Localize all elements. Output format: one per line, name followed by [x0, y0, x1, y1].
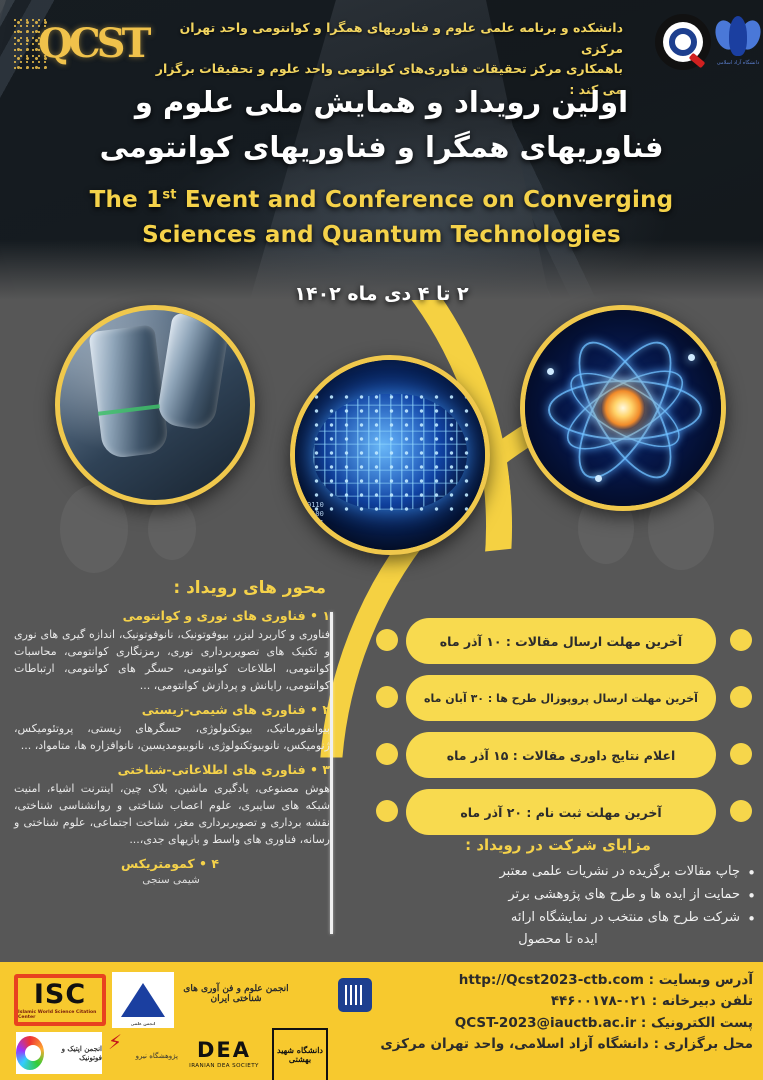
deadlines-section: آخرین مهلت ارسال مقالات : ۱۰ آذر ماه آخر…	[376, 618, 756, 846]
qcst-logo: QCST	[14, 14, 136, 74]
event-date: ۲ تا ۴ دی ماه ۱۴۰۲	[0, 283, 763, 305]
persian-title-line-2: فناوریهای همگرا و فناوریهای کوانتومی	[0, 125, 763, 170]
topic-item: ۱ • فناوری های نوری و کوانتومی فناوری و …	[10, 608, 332, 694]
objective-lens-icon	[88, 324, 169, 459]
objective-lens-icon	[156, 312, 231, 432]
persian-title: اولین رویداد و همایش ملی علوم و فناوریها…	[0, 80, 763, 170]
english-title: The 1st Event and Conference on Convergi…	[0, 183, 763, 252]
venue-value: دانشگاه آزاد اسلامی، واحد تهران مرکزی	[380, 1036, 648, 1052]
dea-sublabel: IRANIAN DEA SOCIETY	[189, 1063, 259, 1069]
email-label: پست الکترونیک :	[641, 1015, 753, 1031]
bullet-dot-icon	[730, 686, 752, 708]
topic-number: ۲	[322, 702, 330, 717]
qcst-logo-text: QCST	[38, 20, 147, 67]
topic-number: ۴	[211, 856, 219, 871]
topics-section: محور های رویداد : ۱ • فناوری های نوری و …	[10, 578, 332, 886]
deadline-row: آخرین مهلت ثبت نام : ۲۰ آذر ماه	[376, 789, 756, 835]
topic-label: فناوری های شیمی-زیستی	[142, 702, 306, 717]
bullet-dot-icon	[730, 629, 752, 651]
topic-title: ۴ • کمومتریکس	[10, 856, 330, 871]
topic-label: کمومتریکس	[121, 856, 195, 871]
phone-value: ۰۲۱-۴۴۶۰۰۱۷۸	[551, 993, 647, 1009]
benefits-section: مزایای شرکت در رویداد : چاپ مقالات برگزی…	[360, 836, 756, 952]
bullet-dot-icon	[376, 800, 398, 822]
deadline-pill: اعلام نتایج داوری مقالات : ۱۵ آذر ماه	[406, 732, 716, 778]
contact-info: آدرس وبسایت : http://Qcst2023-ctb.com تل…	[333, 970, 753, 1055]
lightning-bolt-icon: ⚡	[108, 1032, 178, 1052]
dea-society-logo: DEA IRANIAN DEA SOCIETY	[182, 1034, 266, 1074]
dea-label: DEA	[197, 1040, 251, 1061]
isc-sublabel: Islamic World Science Citation Center	[18, 1010, 102, 1020]
english-title-line-2: Sciences and Quantum Technologies	[0, 218, 763, 253]
topic-body: فناوری و کاربرد لیزر، بیوفوتونیک، نانوفو…	[14, 626, 330, 694]
organizer-line-1: دانشکده و برنامه علمی علوم و فناوریهای ه…	[153, 18, 623, 59]
footer-bar: ISC Islamic World Science Citation Cente…	[0, 962, 763, 1080]
q-ring-icon	[663, 22, 703, 62]
topic-label: فناوری های نوری و کوانتومی	[123, 608, 306, 623]
ordinal-suffix: st	[162, 187, 176, 202]
isc-inner: ISC Islamic World Science Citation Cente…	[18, 978, 102, 1022]
electron-icon	[688, 354, 695, 361]
electron-icon	[547, 368, 554, 375]
contact-venue-row: محل برگزاری : دانشگاه آزاد اسلامی، واحد …	[333, 1034, 753, 1055]
persian-title-line-1: اولین رویداد و همایش ملی علوم و	[0, 80, 763, 125]
contact-phone-row: تلفن دبیرخانه : ۰۲۱-۴۴۶۰۰۱۷۸	[333, 991, 753, 1012]
benefits-heading: مزایای شرکت در رویداد :	[360, 836, 756, 854]
rainbow-circle-icon	[16, 1036, 44, 1070]
english-title-prefix: The 1	[90, 187, 163, 213]
topic-item: ۲ • فناوری های شیمی-زیستی بیوانفورماتیک،…	[10, 702, 332, 754]
topic-label: فناوری های اطلاعاتی-شناختی	[118, 762, 306, 777]
topic-number: ۱	[322, 608, 330, 623]
topic-title: ۲ • فناوری های شیمی-زیستی	[10, 702, 330, 717]
bullet-dot-icon	[730, 743, 752, 765]
wing-center-icon	[729, 16, 747, 56]
atom-image	[520, 305, 726, 511]
contact-website-row: آدرس وبسایت : http://Qcst2023-ctb.com	[333, 970, 753, 991]
topics-heading: محور های رویداد :	[10, 578, 326, 598]
venue-label: محل برگزاری :	[654, 1036, 753, 1052]
contact-email-row: پست الکترونیک : QCST-2023@iauctb.ac.ir	[333, 1013, 753, 1034]
deadline-pill: آخرین مهلت ارسال پروپوزال طرح ها : ۳۰ آب…	[406, 675, 716, 721]
topic-number: ۳	[322, 762, 330, 777]
website-value[interactable]: http://Qcst2023-ctb.com	[459, 972, 644, 988]
english-title-line-1: The 1st Event and Conference on Convergi…	[0, 183, 763, 218]
benefit-continuation: ایده تا محصول	[360, 929, 756, 952]
cognitive-association-logo: انجمن علمی	[112, 972, 174, 1028]
azad-caption: دانشگاه آزاد اسلامی	[716, 60, 760, 66]
benefit-item: شرکت طرح های منتخب در نمایشگاه ارائه	[360, 907, 756, 930]
conference-poster: QCST دانشگاه آزاد اسلامی دانشکده و برنام…	[0, 0, 763, 1080]
binary-digits: 0110010010011001	[307, 501, 324, 536]
deadline-row: اعلام نتایج داوری مقالات : ۱۵ آذر ماه	[376, 732, 756, 778]
email-value[interactable]: QCST-2023@iauctb.ac.ir	[455, 1015, 636, 1031]
benefit-item: چاپ مقالات برگزیده در نشریات علمی معتبر	[360, 861, 756, 884]
phone-label: تلفن دبیرخانه :	[652, 993, 753, 1009]
cognitive-association-text: انجمن علوم و فن آوری های شناختی ایران	[176, 984, 296, 1004]
deadline-pill: آخرین مهلت ثبت نام : ۲۰ آذر ماه	[406, 789, 716, 835]
shahid-beheshti-logo: دانشگاه شهید بهشتی	[272, 1028, 328, 1080]
azad-university-logo: دانشگاه آزاد اسلامی	[716, 12, 760, 74]
benefit-item: حمایت از ایده ها و طرح های پژوهشی برتر	[360, 884, 756, 907]
nucleus-icon	[601, 386, 645, 430]
topic-title: ۳ • فناوری های اطلاعاتی-شناختی	[10, 762, 330, 777]
topic-title: ۱ • فناوری های نوری و کوانتومی	[10, 608, 330, 623]
website-label: آدرس وبسایت :	[649, 972, 753, 988]
bullet-dot-icon	[376, 743, 398, 765]
quantum-research-center-logo	[655, 14, 711, 70]
deadline-row: آخرین مهلت ارسال مقالات : ۱۰ آذر ماه	[376, 618, 756, 664]
microscope-image	[55, 305, 255, 505]
niroo-research-logo: ⚡ پژوهشگاه نیرو	[108, 1032, 178, 1076]
deadline-pill: آخرین مهلت ارسال مقالات : ۱۰ آذر ماه	[406, 618, 716, 664]
english-title-rest: Event and Conference on Converging	[177, 187, 674, 213]
isc-logo: ISC Islamic World Science Citation Cente…	[14, 974, 106, 1026]
topic-item: ۳ • فناوری های اطلاعاتی-شناختی هوش مصنوع…	[10, 762, 332, 848]
bullet-dot-icon	[376, 686, 398, 708]
optics-society-text: انجمن اپتیک و فوتونیک	[48, 1044, 102, 1062]
digital-brain-image: 0110010010011001	[290, 355, 490, 555]
electron-icon	[595, 475, 602, 482]
column-divider	[330, 612, 333, 934]
optics-society-logo: انجمن اپتیک و فوتونیک	[16, 1032, 102, 1074]
bullet-dot-icon	[730, 800, 752, 822]
sponsor-logos: ISC Islamic World Science Citation Cente…	[6, 966, 336, 1078]
topic-body: شیمی سنجی	[10, 874, 332, 886]
isc-label: ISC	[34, 981, 86, 1008]
deadline-row: آخرین مهلت ارسال پروپوزال طرح ها : ۳۰ آب…	[376, 675, 756, 721]
bullet-dot-icon	[376, 629, 398, 651]
topic-body: هوش مصنوعی، یادگیری ماشین، بلاک چین، این…	[14, 780, 330, 848]
topic-item: ۴ • کمومتریکس شیمی سنجی	[10, 856, 332, 886]
assoc-caption: انجمن علمی	[112, 1021, 174, 1026]
topic-body: بیوانفورماتیک، بیوتکنولوژی، حسگرهای زیست…	[14, 720, 330, 754]
triangle-icon	[121, 983, 165, 1017]
circuit-nodes-icon	[309, 390, 471, 514]
